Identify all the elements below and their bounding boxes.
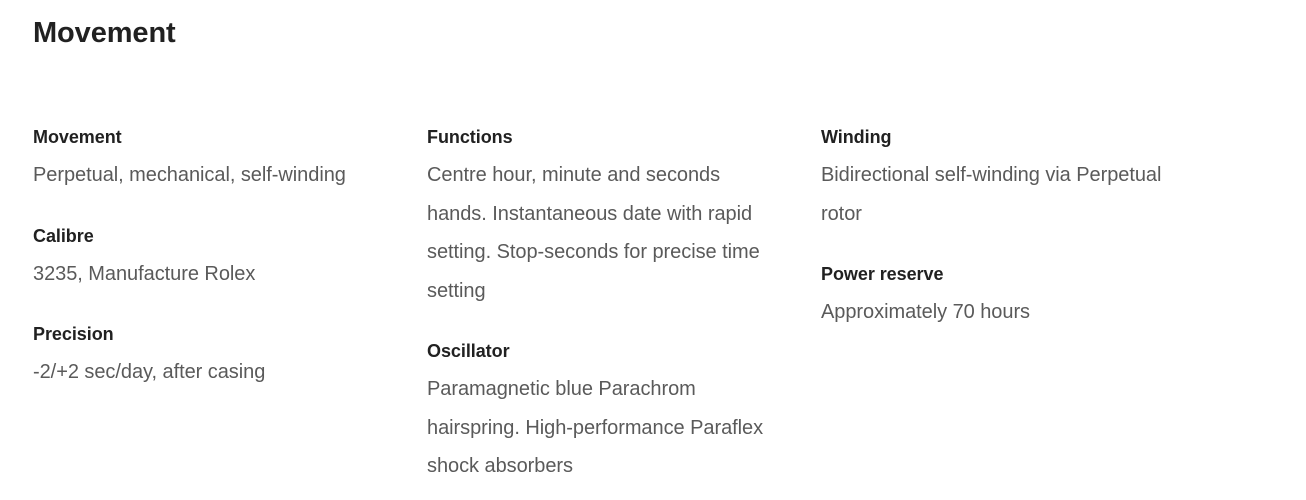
spec-group-power-reserve: Power reserve Approximately 70 hours	[821, 255, 1162, 332]
page-title: Movement	[33, 14, 176, 52]
spec-desc-movement: Perpetual, mechanical, self-winding	[33, 156, 374, 195]
spec-group-winding: Winding Bidirectional self-winding via P…	[821, 118, 1162, 233]
spec-column-2: Functions Centre hour, minute and second…	[394, 118, 788, 486]
specification-columns: Movement Perpetual, mechanical, self-win…	[0, 118, 1306, 486]
spec-term-power-reserve: Power reserve	[821, 255, 1162, 293]
spec-group-oscillator: Oscillator Paramagnetic blue Parachrom h…	[427, 332, 768, 486]
spec-term-movement: Movement	[33, 118, 374, 156]
spec-desc-power-reserve: Approximately 70 hours	[821, 293, 1162, 332]
spec-column-3: Winding Bidirectional self-winding via P…	[788, 118, 1182, 332]
spec-term-precision: Precision	[33, 315, 374, 353]
spec-term-functions: Functions	[427, 118, 768, 156]
spec-term-calibre: Calibre	[33, 217, 374, 255]
spec-desc-calibre: 3235, Manufacture Rolex	[33, 255, 374, 294]
spec-term-oscillator: Oscillator	[427, 332, 768, 370]
spec-group-functions: Functions Centre hour, minute and second…	[427, 118, 768, 310]
spec-group-calibre: Calibre 3235, Manufacture Rolex	[33, 217, 374, 294]
spec-group-precision: Precision -2/+2 sec/day, after casing	[33, 315, 374, 392]
spec-group-movement: Movement Perpetual, mechanical, self-win…	[33, 118, 374, 195]
spec-desc-winding: Bidirectional self-winding via Perpetual…	[821, 156, 1162, 233]
spec-desc-oscillator: Paramagnetic blue Parachrom hairspring. …	[427, 370, 768, 486]
spec-column-1: Movement Perpetual, mechanical, self-win…	[0, 118, 394, 392]
movement-specification-panel: Movement Movement Perpetual, mechanical,…	[0, 0, 1306, 500]
spec-term-winding: Winding	[821, 118, 1162, 156]
spec-desc-precision: -2/+2 sec/day, after casing	[33, 353, 374, 392]
spec-desc-functions: Centre hour, minute and seconds hands. I…	[427, 156, 768, 310]
